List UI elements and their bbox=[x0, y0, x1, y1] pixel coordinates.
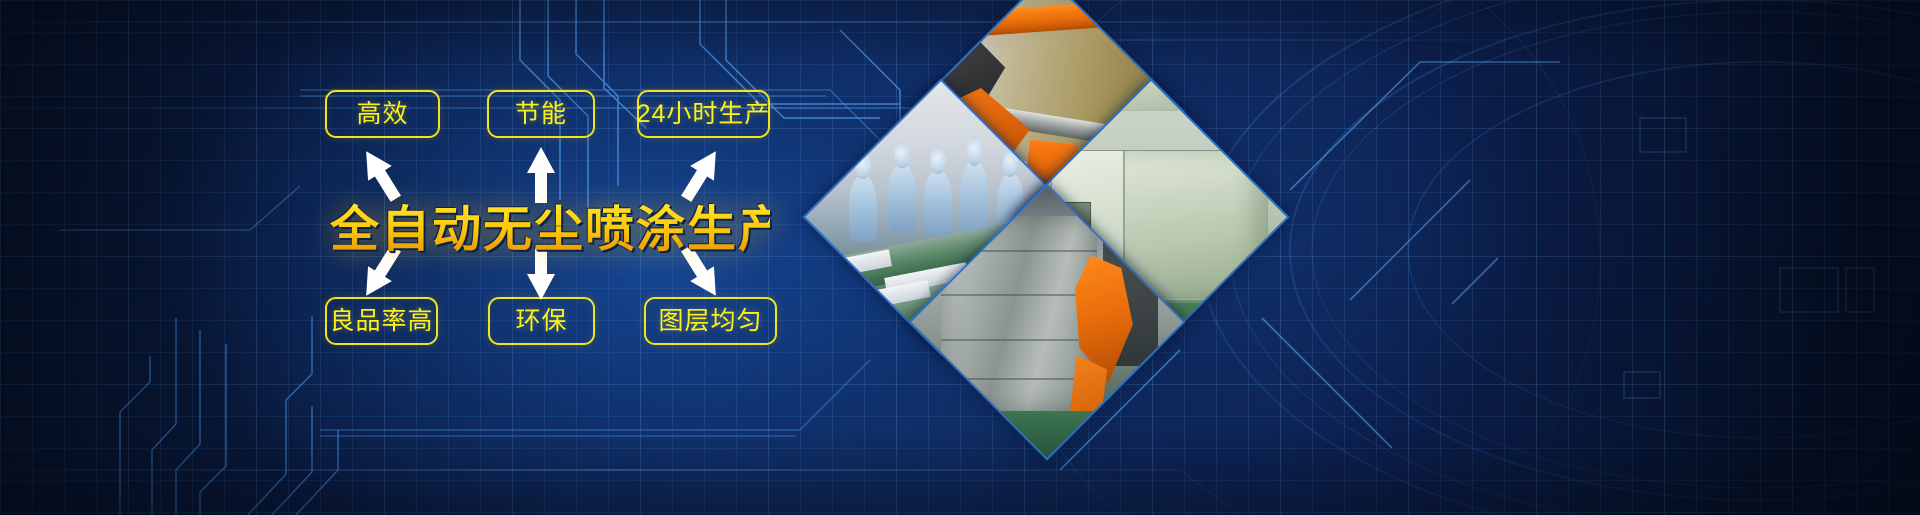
feature-pill-top-3[interactable]: 24小时生产 bbox=[637, 90, 770, 138]
feature-pill-bottom-1[interactable]: 良品率高 bbox=[325, 297, 438, 345]
feature-pill-bottom-3[interactable]: 图层均匀 bbox=[644, 297, 777, 345]
feature-pill-top-1[interactable]: 高效 bbox=[325, 90, 440, 138]
product-banner: 高效 节能 24小时生产 良品率高 环保 图层均匀 bbox=[0, 0, 1920, 515]
feature-pill-top-2[interactable]: 节能 bbox=[487, 90, 595, 138]
banner-title: 全自动无尘喷涂生产线 bbox=[330, 192, 770, 258]
photo-collage bbox=[845, 26, 1245, 396]
feature-pill-bottom-2[interactable]: 环保 bbox=[488, 297, 595, 345]
